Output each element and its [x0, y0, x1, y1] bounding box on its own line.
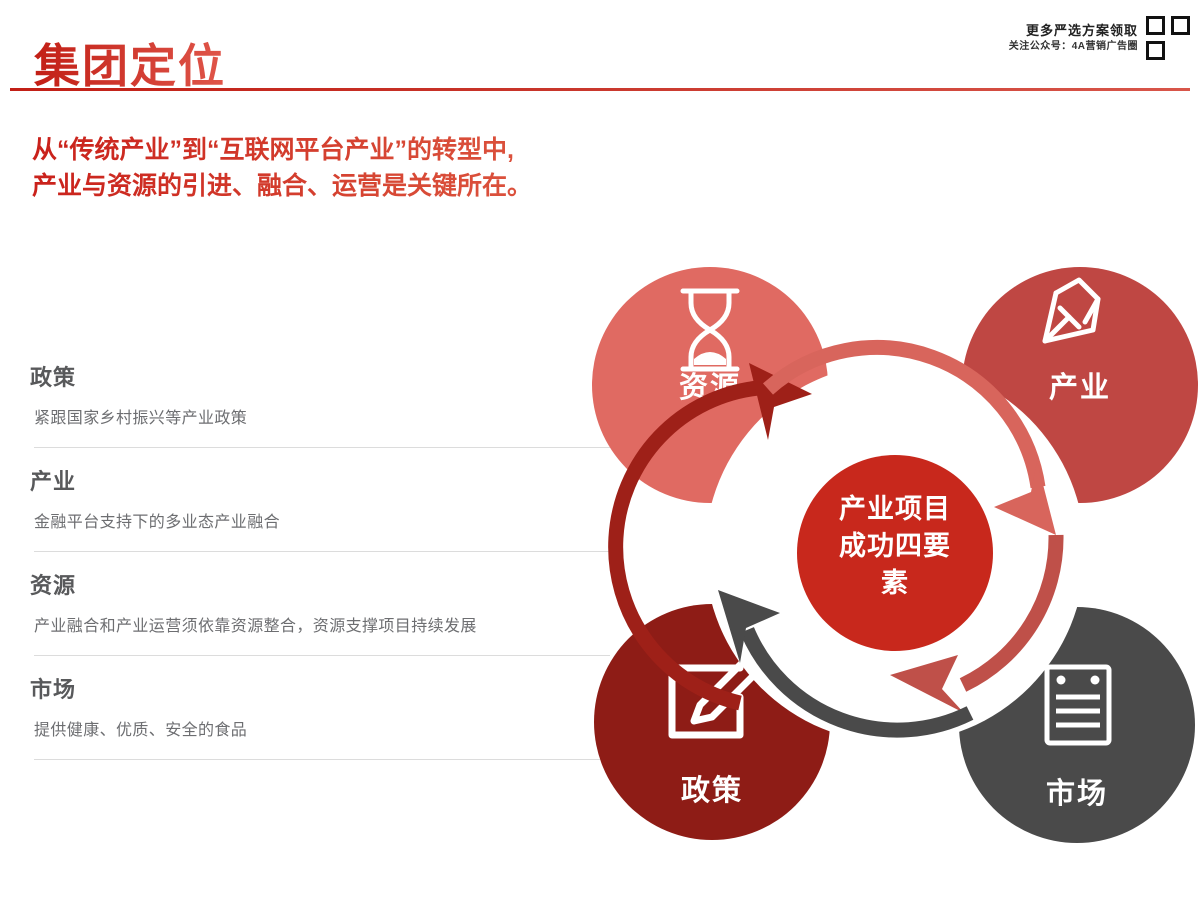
four-factor-diagram: 资源 产业 政策 — [590, 235, 1200, 855]
node-market-label: 市场 — [1046, 776, 1108, 810]
core-label-line-3: 素 — [881, 568, 909, 598]
list-item-desc: 紧跟国家乡村振兴等产业政策 — [34, 404, 610, 428]
list-item-title: 产业 — [30, 464, 610, 496]
factor-list: 政策 紧跟国家乡村振兴等产业政策 产业 金融平台支持下的多业态产业融合 资源 产… — [30, 360, 610, 776]
core-label-line-2: 成功四要 — [839, 531, 951, 561]
subtitle-line-2: 产业与资源的引进、融合、运营是关键所在。 — [32, 169, 732, 205]
page-title: 集团定位 — [34, 30, 226, 96]
promo-headline: 更多严选方案领取 — [1026, 22, 1138, 40]
list-item-title: 政策 — [30, 360, 610, 392]
promo-block: 更多严选方案领取 关注公众号：4A营销广告圈 — [1009, 14, 1192, 62]
list-item: 政策 紧跟国家乡村振兴等产业政策 — [30, 360, 610, 448]
subtitle-line-1: 从“传统产业”到“互联网平台产业”的转型中, — [32, 133, 732, 169]
core-node[interactable]: 产业项目 成功四要 素 — [797, 455, 993, 651]
list-item-title: 资源 — [30, 568, 610, 600]
node-policy-label: 政策 — [681, 773, 743, 807]
subtitle: 从“传统产业”到“互联网平台产业”的转型中, 产业与资源的引进、融合、运营是关键… — [32, 133, 732, 204]
list-item-desc: 金融平台支持下的多业态产业融合 — [34, 508, 610, 532]
list-item-desc: 提供健康、优质、安全的食品 — [34, 716, 610, 740]
list-item-desc: 产业融合和产业运营须依靠资源整合，资源支撑项目持续发展 — [34, 612, 610, 636]
node-industry-label: 产业 — [1049, 371, 1111, 404]
promo-text: 更多严选方案领取 关注公众号：4A营销广告圈 — [1009, 22, 1138, 53]
qr-code-icon — [1144, 14, 1192, 62]
slide-root: 集团定位 更多严选方案领取 关注公众号：4A营销广告圈 从“传统产业”到“互联网… — [0, 0, 1200, 900]
list-item: 资源 产业融合和产业运营须依靠资源整合，资源支撑项目持续发展 — [30, 568, 610, 656]
list-item-title: 市场 — [30, 672, 610, 704]
title-divider — [10, 88, 1190, 91]
core-label-line-1: 产业项目 — [839, 494, 951, 524]
list-item: 市场 提供健康、优质、安全的食品 — [30, 672, 610, 760]
list-item: 产业 金融平台支持下的多业态产业融合 — [30, 464, 610, 552]
promo-subline: 关注公众号：4A营销广告圈 — [1009, 40, 1138, 54]
